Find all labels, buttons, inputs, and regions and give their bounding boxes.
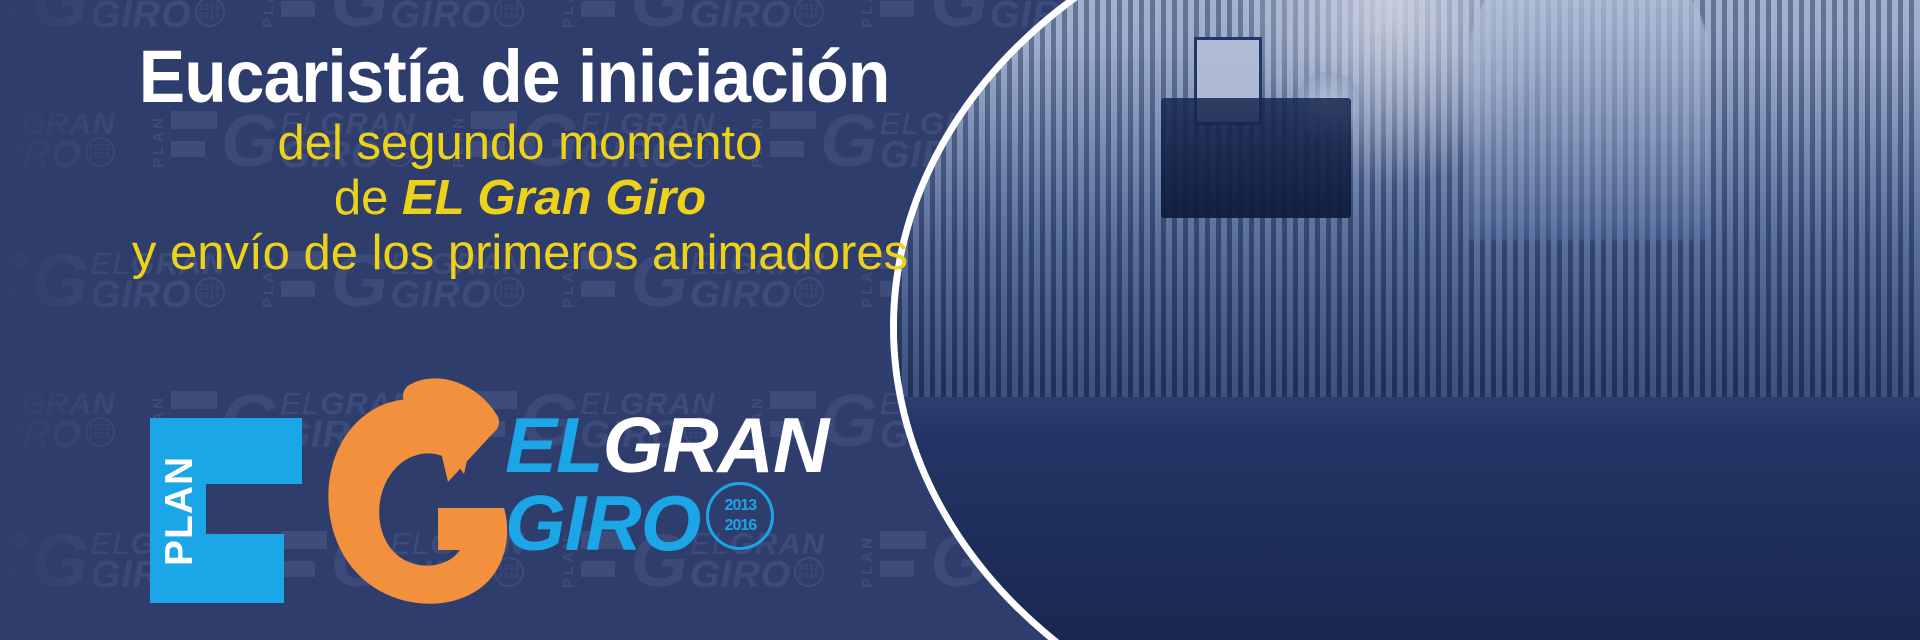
watermark-words: ELGRANGIRO20132016 — [0, 390, 116, 452]
watermark-giro: GIRO20132016 — [0, 417, 116, 452]
subtitle-line-3-emphasis: EL Gran Giro — [402, 171, 706, 225]
logo-year-end: 2016 — [725, 516, 757, 536]
logo-line-giro: GIRO20132016 — [505, 482, 905, 560]
subtitle-line-3-prefix: de — [334, 171, 402, 225]
watermark-logo: PLANGELGRANGIRO20132016 — [0, 390, 116, 452]
watermark-year-end: 2016 — [499, 292, 521, 300]
watermark-el-gran: ELGRAN — [0, 390, 116, 417]
watermark-year-badge: 20132016 — [85, 417, 115, 447]
watermark-year-badge: 20132016 — [195, 277, 225, 307]
watermark-year-end: 2016 — [798, 292, 820, 300]
logo-word-gran: GRAN — [603, 401, 829, 489]
event-banner: PLANGELGRANGIRO20132016PLANGELGRANGIRO20… — [0, 0, 1920, 640]
plan-vertical-label: PLAN — [160, 418, 200, 603]
watermark-year-start: 2013 — [798, 284, 820, 292]
watermark-year-badge: 20132016 — [494, 277, 524, 307]
watermark-year-end: 2016 — [199, 292, 221, 300]
logo-wordmark: ELGRAN GIRO20132016 — [505, 410, 905, 560]
subtitle-line-2: del segundo momento — [0, 116, 1000, 171]
watermark-year-start: 2013 — [199, 284, 221, 292]
logo-year-badge: 20132016 — [706, 482, 774, 550]
photo-image — [897, 0, 1920, 640]
subtitle-line-4: y envío de los primeros animadores — [0, 226, 1000, 281]
giro-g-arrow-icon — [298, 378, 513, 623]
watermark-giro: GIRO20132016 — [390, 277, 525, 312]
headline-block: Eucaristía de iniciación del segundo mom… — [0, 0, 1000, 281]
logo-word-el: EL — [505, 401, 603, 489]
photo-duotone-tint — [897, 0, 1920, 640]
photo-circular-mask — [890, 0, 1920, 640]
subtitle-line-3: de EL Gran Giro — [0, 171, 1000, 226]
watermark-e-mark — [0, 531, 27, 591]
watermark-year-end: 2016 — [89, 432, 111, 440]
watermark-year-badge: 20132016 — [794, 277, 824, 307]
plan-e-mark: PLAN — [150, 418, 302, 603]
page-title: Eucaristía de iniciación — [30, 40, 970, 114]
watermark-g-letter: G — [31, 533, 89, 589]
logo-line-el-gran: ELGRAN — [505, 410, 905, 482]
watermark-giro: GIRO20132016 — [91, 277, 226, 312]
watermark-year-start: 2013 — [89, 424, 111, 432]
logo-word-giro: GIRO — [505, 488, 700, 560]
watermark-year-start: 2013 — [499, 284, 521, 292]
el-gran-giro-logo: PLAN ELGRAN GIRO20132016 — [150, 390, 910, 620]
logo-year-start: 2013 — [725, 496, 757, 516]
watermark-giro: GIRO20132016 — [690, 277, 825, 312]
